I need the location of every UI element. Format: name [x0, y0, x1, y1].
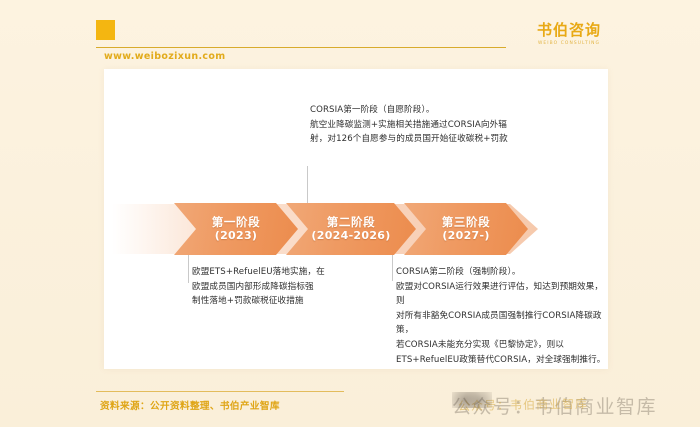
stage-1-title: 第一阶段 — [212, 215, 260, 229]
brand-name-en: WEIBO CONSULTING — [524, 41, 614, 46]
stage-2-title: 第二阶段 — [327, 215, 375, 229]
annotation-left-line-2: 欧盟成员国内部形成降碳指标强 — [192, 280, 377, 295]
annotation-top-line-3: 射，对126个自愿参与的成员国开始征收碳税+罚款 — [310, 132, 605, 147]
annotation-right-line-1: CORSIA第二阶段（强制阶段）。 — [396, 265, 611, 280]
slide-header: www.weibozixun.com 书伯咨询 WEIBO CONSULTING — [0, 0, 700, 70]
annotation-right-line-4: 若CORSIA未能充分实现《巴黎协定》，则以 — [396, 338, 611, 353]
stage-3-years: (2027-) — [442, 229, 489, 243]
annotation-left: 欧盟ETS+RefuelEU落地实施，在 欧盟成员国内部形成降碳指标强 制性落地… — [192, 265, 377, 309]
annotation-right-line-5: ETS+RefuelEU政策替代CORSIA，对全球强制推行。 — [396, 353, 611, 368]
annotation-left-line-1: 欧盟ETS+RefuelEU落地实施，在 — [192, 265, 377, 280]
slide-canvas: www.weibozixun.com 书伯咨询 WEIBO CONSULTING… — [0, 0, 700, 427]
content-card: 第一阶段 (2023) 第二阶段 (2024-2026) 第三阶段 (2027-… — [104, 69, 608, 369]
source-note: 资料来源：公开资料整理、书伯产业智库 — [100, 398, 280, 412]
website-url: www.weibozixun.com — [104, 51, 226, 62]
stage-3-title: 第三阶段 — [442, 215, 490, 229]
annotation-top-line-1: CORSIA第一阶段（自愿阶段）。 — [310, 103, 605, 118]
annotation-right: CORSIA第二阶段（强制阶段）。 欧盟对CORSIA运行效果进行评估，知达到预… — [396, 265, 611, 367]
accent-square-icon — [96, 20, 115, 40]
footer-divider — [96, 391, 344, 392]
annotation-right-line-3: 对所有非豁免CORSIA成员国强制推行CORSIA降碳政策， — [396, 309, 611, 338]
connector-line-right — [392, 255, 393, 281]
annotation-top-line-2: 航空业降碳监测+实施相关措施通过CORSIA向外辐 — [310, 118, 605, 133]
brand-logo: 书伯咨询 WEIBO CONSULTING — [524, 22, 614, 46]
brand-name-cn: 书伯咨询 — [524, 22, 614, 39]
connector-line-top — [307, 166, 308, 203]
watermark-smudge-icon — [452, 392, 492, 408]
stage-2-years: (2024-2026) — [311, 229, 390, 243]
annotation-left-line-3: 制性落地+罚款碳税征收措施 — [192, 294, 377, 309]
annotation-right-line-2: 欧盟对CORSIA运行效果进行评估，知达到预期效果，则 — [396, 280, 611, 309]
connector-line-left — [188, 255, 189, 283]
header-divider — [96, 47, 506, 48]
annotation-top: CORSIA第一阶段（自愿阶段）。 航空业降碳监测+实施相关措施通过CORSIA… — [310, 103, 605, 147]
stage-1-years: (2023) — [215, 229, 257, 243]
